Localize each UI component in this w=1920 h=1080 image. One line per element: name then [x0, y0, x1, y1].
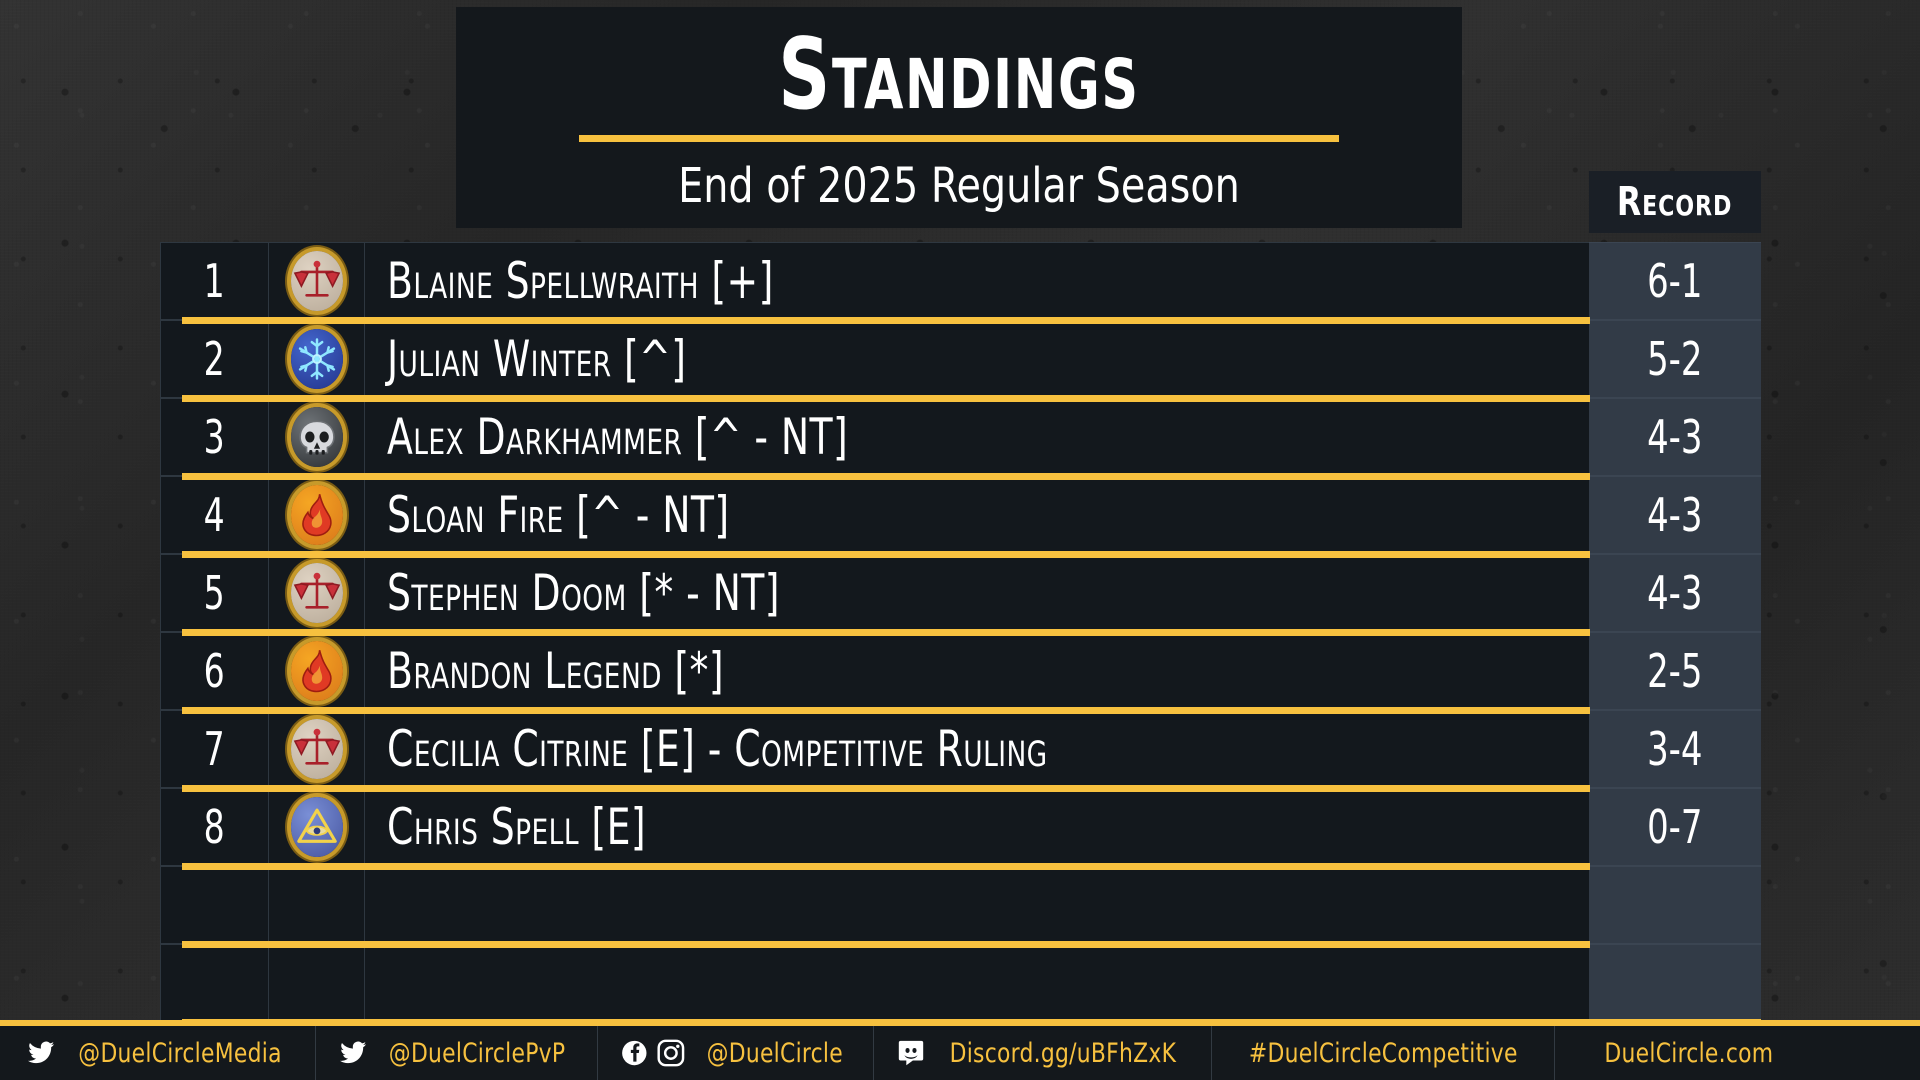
- record-cell: [1589, 944, 1761, 1022]
- discord-icon: [896, 1038, 926, 1068]
- footer-item[interactable]: DuelCircle.com: [1555, 1026, 1805, 1080]
- player-name-cell: Stephen Doom [* - NT]: [365, 555, 1589, 631]
- rank-value: 6: [204, 644, 225, 698]
- footer-item[interactable]: @DuelCircle: [598, 1026, 874, 1080]
- record-cell: 4-3: [1589, 398, 1761, 476]
- rank-value: 4: [204, 488, 225, 542]
- player-name-cell: [365, 945, 1589, 1021]
- record-cell: 5-2: [1589, 320, 1761, 398]
- faction-icon-cell: [269, 789, 365, 865]
- scales-icon: [291, 563, 343, 623]
- facebook-icon: [622, 1041, 646, 1065]
- record-column-header: Record: [1589, 171, 1761, 233]
- footer-item[interactable]: Discord.gg/uBFhZxK: [874, 1026, 1212, 1080]
- player-name-value: Alex Darkhammer [^ - NT]: [387, 408, 848, 466]
- table-row-body: [160, 944, 1589, 1022]
- footer-item-label: DuelCircle.com: [1605, 1038, 1774, 1069]
- record-cell: 4-3: [1589, 554, 1761, 632]
- footer-item-label: #DuelCircleCompetitive: [1248, 1038, 1517, 1069]
- footer-item[interactable]: @DuelCirclePvP: [316, 1026, 598, 1080]
- table-row[interactable]: 1 Blaine Spellwraith [+]6-1: [160, 242, 1761, 320]
- table-row-body: 5 Stephen Doom [* - NT]: [160, 554, 1589, 632]
- faction-icon-cell: [269, 243, 365, 319]
- scales-icon: [291, 719, 343, 779]
- instagram-icon: [659, 1041, 683, 1065]
- row-divider: [182, 551, 1590, 558]
- record-value: 5-2: [1647, 332, 1702, 386]
- rank-cell: 5: [161, 555, 269, 631]
- rank-cell: [161, 945, 269, 1021]
- player-name-cell: Chris Spell [E]: [365, 789, 1589, 865]
- player-name-value: Chris Spell [E]: [387, 798, 646, 856]
- player-name-cell: Blaine Spellwraith [+]: [365, 243, 1589, 319]
- record-value: 4-3: [1647, 410, 1702, 464]
- record-column-header-label: Record: [1617, 179, 1732, 225]
- faction-icon-cell: [269, 867, 365, 943]
- page-title: Standings: [547, 7, 1372, 129]
- rank-cell: 7: [161, 711, 269, 787]
- row-divider: [182, 317, 1590, 324]
- faction-icon-cell: [269, 477, 365, 553]
- rank-cell: 1: [161, 243, 269, 319]
- player-name-cell: Alex Darkhammer [^ - NT]: [365, 399, 1589, 475]
- player-name-cell: Brandon Legend [*]: [365, 633, 1589, 709]
- rank-value: 2: [204, 332, 225, 386]
- record-value: 4-3: [1647, 566, 1702, 620]
- row-divider: [182, 629, 1590, 636]
- row-divider: [182, 785, 1590, 792]
- table-row-body: 6 Brandon Legend [*]: [160, 632, 1589, 710]
- record-value: 4-3: [1647, 488, 1702, 542]
- row-divider: [182, 707, 1590, 714]
- player-name-cell: Cecilia Citrine [E] - Competitive Ruling: [365, 711, 1589, 787]
- player-name-value: Blaine Spellwraith [+]: [387, 252, 774, 310]
- record-value: 3-4: [1647, 722, 1702, 776]
- footer-item[interactable]: @DuelCircleMedia: [0, 1026, 316, 1080]
- record-value: 2-5: [1647, 644, 1702, 698]
- snowflake-icon: [291, 329, 343, 389]
- table-row-body: 4 Sloan Fire [^ - NT]: [160, 476, 1589, 554]
- faction-icon-cell: [269, 555, 365, 631]
- player-name-cell: [365, 867, 1589, 943]
- table-row-body: [160, 866, 1589, 944]
- player-name-value: Brandon Legend [*]: [387, 642, 724, 700]
- table-row[interactable]: 5 Stephen Doom [* - NT]4-3: [160, 554, 1761, 632]
- player-name-cell: Julian Winter [^]: [365, 321, 1589, 397]
- rank-cell: 6: [161, 633, 269, 709]
- record-cell: 6-1: [1589, 242, 1761, 320]
- rank-value: 7: [204, 722, 225, 776]
- footer-item-label: Discord.gg/uBFhZxK: [949, 1038, 1176, 1069]
- footer-item-label: @DuelCircle: [707, 1038, 843, 1069]
- faction-icon-cell: [269, 633, 365, 709]
- player-name-value: Cecilia Citrine [E] - Competitive Ruling: [387, 720, 1048, 778]
- table-row-body: 8 Chris Spell [E]: [160, 788, 1589, 866]
- player-name-value: Sloan Fire [^ - NT]: [387, 486, 730, 544]
- table-row[interactable]: 2 Julian Winter [^]5-2: [160, 320, 1761, 398]
- table-row-body: 1 Blaine Spellwraith [+]: [160, 242, 1589, 320]
- record-value: 6-1: [1647, 254, 1702, 308]
- standings-table: 1 Blaine Spellwraith [+]6-12 Julian: [160, 242, 1761, 1022]
- record-value: 0-7: [1647, 800, 1702, 854]
- player-name-cell: Sloan Fire [^ - NT]: [365, 477, 1589, 553]
- rank-value: 8: [204, 800, 225, 854]
- table-row[interactable]: 4 Sloan Fire [^ - NT]4-3: [160, 476, 1761, 554]
- player-name-value: Julian Winter [^]: [387, 330, 686, 388]
- scales-icon: [291, 251, 343, 311]
- flame-icon: [291, 641, 343, 701]
- record-cell: 4-3: [1589, 476, 1761, 554]
- twitter-icon: [338, 1038, 368, 1068]
- facebook-instagram-icon-group: [620, 1038, 688, 1068]
- faction-icon-cell: [269, 399, 365, 475]
- twitter-icon: [26, 1038, 56, 1068]
- social-footer-bar: @DuelCircleMedia @DuelCirclePvP @DuelCir…: [0, 1026, 1920, 1080]
- table-row[interactable]: 3 Alex Darkhammer [^ - NT]4-3: [160, 398, 1761, 476]
- footer-item-label: @DuelCircleMedia: [78, 1038, 281, 1069]
- skull-icon: [291, 407, 343, 467]
- row-divider: [182, 941, 1590, 948]
- table-row-body: 2 Julian Winter [^]: [160, 320, 1589, 398]
- record-cell: 0-7: [1589, 788, 1761, 866]
- footer-item-label: @DuelCirclePvP: [389, 1038, 566, 1069]
- faction-icon-cell: [269, 945, 365, 1021]
- table-row[interactable]: 7 Cecilia Citrine [E] - Competitive Ruli…: [160, 710, 1761, 788]
- eye-pyramid-icon: [291, 797, 343, 857]
- rank-value: 5: [204, 566, 225, 620]
- table-row[interactable]: 6 Brandon Legend [*]2-5: [160, 632, 1761, 710]
- table-row-body: 7 Cecilia Citrine [E] - Competitive Ruli…: [160, 710, 1589, 788]
- table-row[interactable]: 8 Chris Spell [E]0-7: [160, 788, 1761, 866]
- rank-cell: 8: [161, 789, 269, 865]
- row-divider: [182, 395, 1590, 402]
- record-cell: 3-4: [1589, 710, 1761, 788]
- rank-cell: [161, 867, 269, 943]
- table-row[interactable]: [160, 866, 1761, 944]
- table-row-body: 3 Alex Darkhammer [^ - NT]: [160, 398, 1589, 476]
- title-underline-rule: [579, 135, 1339, 142]
- rank-cell: 2: [161, 321, 269, 397]
- footer-item[interactable]: #DuelCircleCompetitive: [1212, 1026, 1556, 1080]
- player-name-value: Stephen Doom [* - NT]: [387, 564, 780, 622]
- rank-cell: 4: [161, 477, 269, 553]
- row-divider: [182, 863, 1590, 870]
- rank-cell: 3: [161, 399, 269, 475]
- row-divider: [182, 473, 1590, 480]
- faction-icon-cell: [269, 321, 365, 397]
- page-subtitle: End of 2025 Regular Season: [496, 158, 1422, 214]
- record-cell: 2-5: [1589, 632, 1761, 710]
- record-cell: [1589, 866, 1761, 944]
- faction-icon-cell: [269, 711, 365, 787]
- rank-value: 1: [204, 254, 225, 308]
- flame-icon: [291, 485, 343, 545]
- table-row[interactable]: [160, 944, 1761, 1022]
- rank-value: 3: [204, 410, 225, 464]
- title-panel: Standings End of 2025 Regular Season: [456, 7, 1462, 228]
